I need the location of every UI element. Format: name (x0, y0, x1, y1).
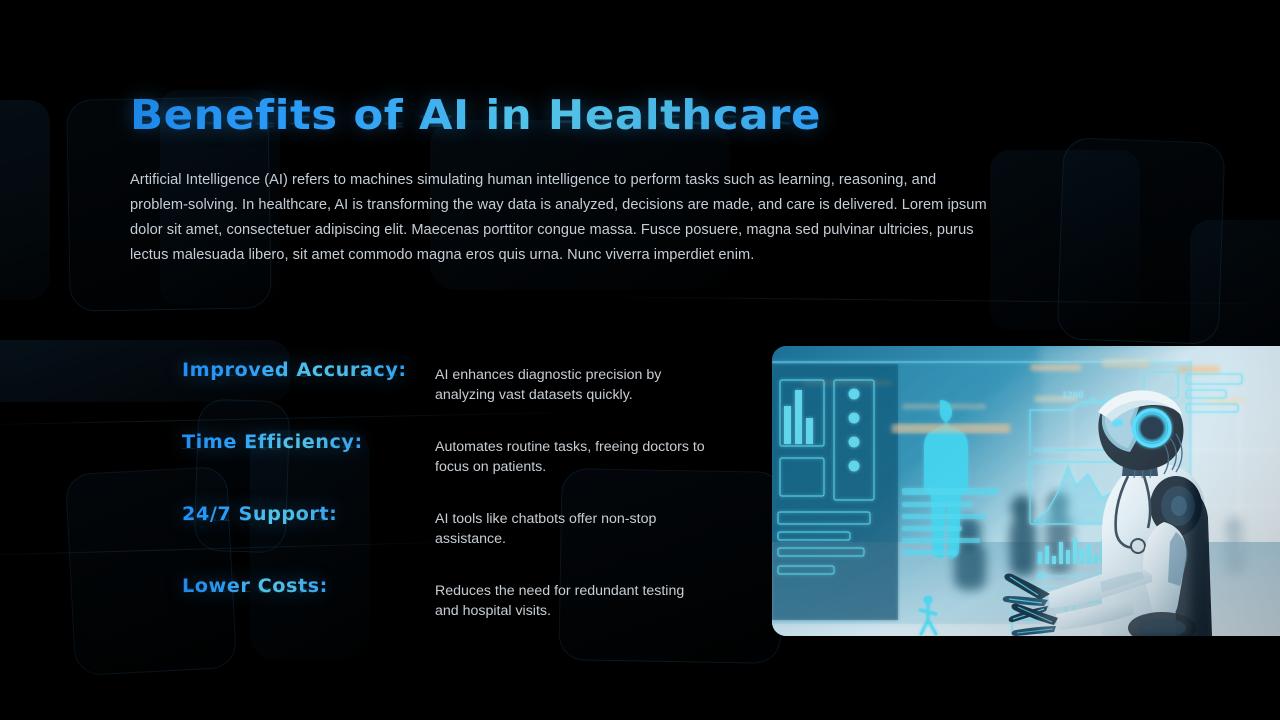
benefit-item-improved-accuracy: Improved Accuracy: Improved Accuracy: AI… (182, 358, 742, 430)
bg-shape-5 (1057, 137, 1226, 345)
benefit-description: AI enhances diagnostic precision by anal… (435, 366, 705, 405)
slide-root: Benefits of AI in Healthcare Benefits of… (0, 0, 1280, 720)
page-title: Benefits of AI in Healthcare (130, 88, 821, 142)
benefit-description: Reduces the need for redundant testing a… (435, 582, 705, 621)
benefit-title: Time Efficiency: (182, 430, 363, 456)
benefit-description: AI tools like chatbots offer non-stop as… (435, 510, 705, 549)
benefit-item-time-efficiency: Time Efficiency: Time Efficiency: Automa… (182, 430, 742, 502)
benefits-list: Improved Accuracy: Improved Accuracy: AI… (182, 358, 742, 646)
hero-illustration: 1200 (772, 346, 1280, 636)
benefit-description: Automates routine tasks, freeing doctors… (435, 438, 705, 477)
bg-line-3 (600, 296, 1280, 304)
bg-shape-1 (0, 100, 50, 300)
benefit-title: Improved Accuracy: (182, 358, 407, 384)
benefit-title: Lower Costs: (182, 574, 328, 600)
benefit-item-lower-costs: Lower Costs: Lower Costs: Reduces the ne… (182, 574, 742, 646)
intro-paragraph: Artificial Intelligence (AI) refers to m… (130, 168, 995, 268)
benefit-title: 24/7 Support: (182, 502, 337, 528)
bg-shape-4 (990, 150, 1140, 330)
hero-image: 1200 (772, 346, 1280, 636)
benefit-item-24-7-support: 24/7 Support: 24/7 Support: AI tools lik… (182, 502, 742, 574)
